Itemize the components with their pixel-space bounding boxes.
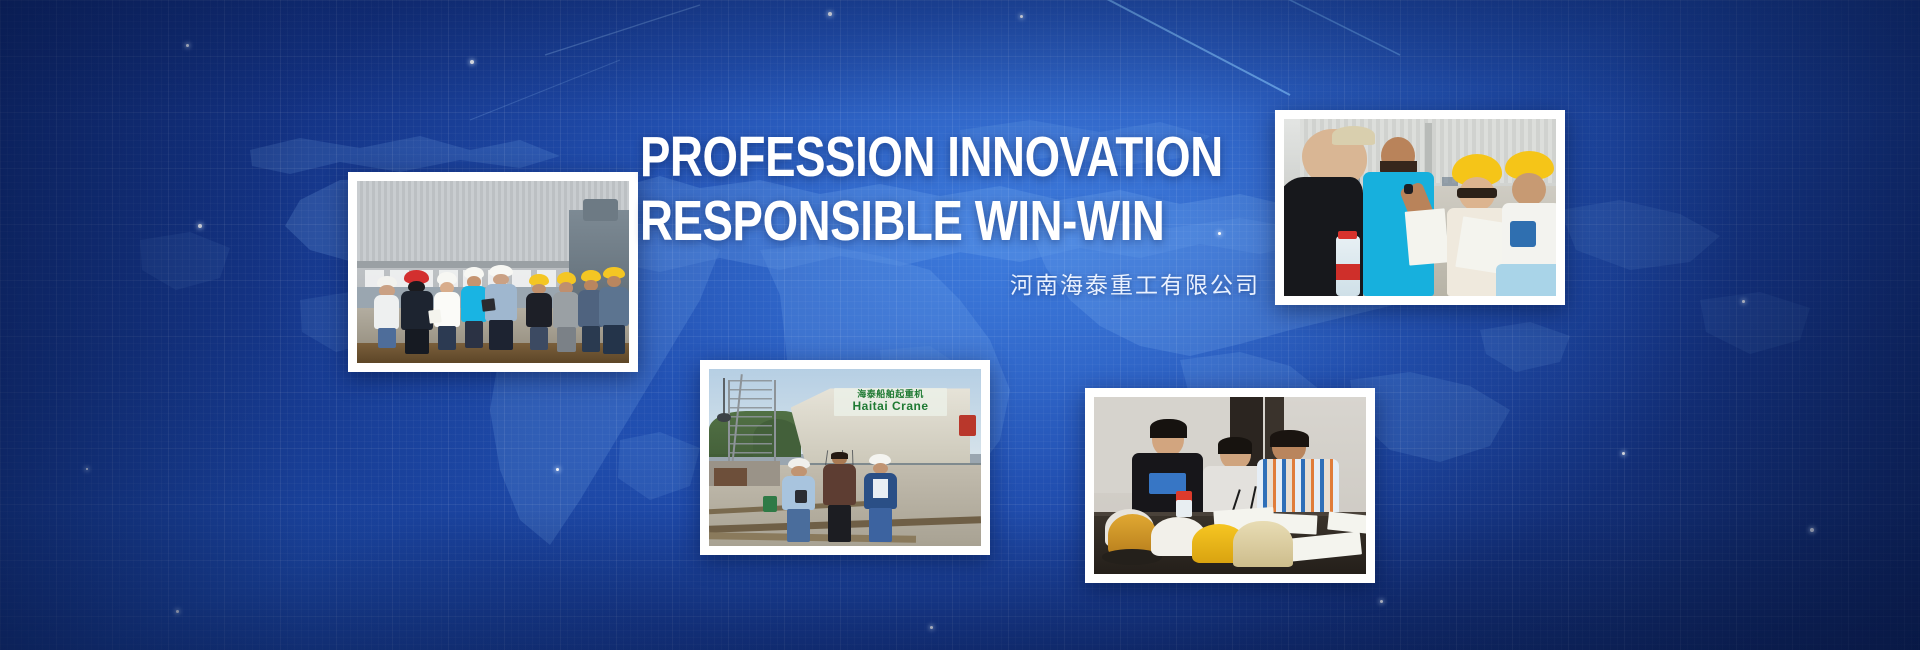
- star-dot: [1020, 15, 1023, 18]
- star-dot: [930, 626, 933, 629]
- star-dot: [1622, 452, 1625, 455]
- star-dot: [1742, 300, 1745, 303]
- star-dot: [186, 44, 189, 47]
- star-dot: [828, 12, 832, 16]
- star-dot: [1810, 528, 1814, 532]
- crane-signage-caption: 海泰船舶起重机 Haitai Crane: [834, 388, 947, 415]
- star-dot: [470, 60, 474, 64]
- company-name-subline: 河南海泰重工有限公司: [640, 266, 1260, 300]
- star-dot: [556, 468, 559, 471]
- crane-caption-en: Haitai Crane: [836, 400, 945, 413]
- headline-line-1: PROFESSION INNOVATION: [640, 128, 1136, 186]
- star-dot: [198, 224, 202, 228]
- star-dot: [1380, 600, 1383, 603]
- photo-haitai-crane: 海泰船舶起重机 Haitai Crane: [700, 360, 990, 555]
- star-dot: [176, 610, 179, 613]
- banner-copy: PROFESSION INNOVATION RESPONSIBLE WIN-WI…: [640, 128, 1260, 300]
- photo-site-meeting: [348, 172, 638, 372]
- hero-banner: PROFESSION INNOVATION RESPONSIBLE WIN-WI…: [0, 0, 1920, 650]
- star-dot: [86, 468, 88, 470]
- photo-contract-signing: [1085, 388, 1375, 583]
- headline-line-2: RESPONSIBLE WIN-WIN: [640, 192, 1136, 250]
- photo-client-visit: [1275, 110, 1565, 305]
